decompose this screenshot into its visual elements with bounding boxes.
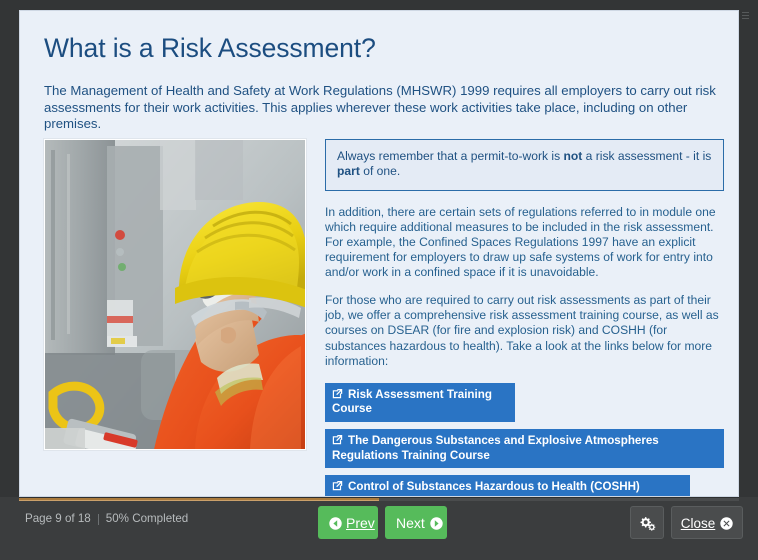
course-player-window: What is a Risk Assessment? The Managemen… bbox=[0, 0, 758, 560]
link-dsear-training-course[interactable]: The Dangerous Substances and Explosive A… bbox=[325, 429, 724, 468]
external-link-icon bbox=[332, 388, 343, 399]
right-content-column: Always remember that a permit-to-work is… bbox=[325, 139, 724, 497]
arrow-circle-right-icon bbox=[430, 517, 443, 530]
slide-content-panel: What is a Risk Assessment? The Managemen… bbox=[19, 10, 739, 497]
corner-grip-icon bbox=[742, 12, 749, 23]
progress-status: Page 9 of 1850% Completed bbox=[25, 512, 188, 525]
callout-bold-part: part bbox=[337, 164, 360, 178]
callout-bold-not: not bbox=[563, 149, 582, 163]
callout-text-after: of one. bbox=[360, 164, 400, 178]
status-divider bbox=[98, 514, 99, 525]
completion-indicator: 50% Completed bbox=[106, 512, 189, 525]
link-label: Risk Assessment Training Course bbox=[332, 388, 492, 416]
external-link-icon bbox=[332, 434, 343, 445]
paragraph-courses: For those who are required to carry out … bbox=[325, 293, 724, 368]
progress-bar-fill bbox=[19, 498, 379, 501]
link-risk-assessment-training-course[interactable]: Risk Assessment Training Course bbox=[325, 383, 515, 422]
course-links-list: Risk Assessment Training Course The Dang… bbox=[325, 383, 724, 497]
slide-photo bbox=[44, 139, 306, 450]
close-circle-icon bbox=[720, 517, 733, 530]
close-label: Close bbox=[681, 516, 716, 531]
paragraph-regulations: In addition, there are certain sets of r… bbox=[325, 205, 724, 280]
next-label: Next bbox=[396, 515, 425, 531]
intro-paragraph: The Management of Health and Safety at W… bbox=[44, 83, 724, 133]
link-label: Control of Substances Hazardous to Healt… bbox=[332, 480, 640, 497]
callout-text-before: Always remember that a permit-to-work is bbox=[337, 149, 563, 163]
next-button[interactable]: Next bbox=[385, 506, 447, 539]
arrow-circle-left-icon bbox=[329, 517, 342, 530]
gears-icon bbox=[639, 516, 656, 531]
link-label: The Dangerous Substances and Explosive A… bbox=[332, 434, 659, 462]
prev-label: Prev bbox=[346, 515, 375, 531]
callout-text-middle: a risk assessment - it is bbox=[582, 149, 711, 163]
link-coshh-training-course[interactable]: Control of Substances Hazardous to Healt… bbox=[325, 475, 690, 497]
callout-note: Always remember that a permit-to-work is… bbox=[325, 139, 724, 191]
external-link-icon bbox=[332, 480, 343, 491]
page-indicator: Page 9 of 18 bbox=[25, 512, 91, 525]
prev-button[interactable]: Prev bbox=[318, 506, 378, 539]
page-title: What is a Risk Assessment? bbox=[44, 33, 376, 64]
settings-button[interactable] bbox=[630, 506, 664, 539]
progress-bar-track[interactable] bbox=[19, 497, 739, 501]
close-button[interactable]: Close bbox=[671, 506, 743, 539]
